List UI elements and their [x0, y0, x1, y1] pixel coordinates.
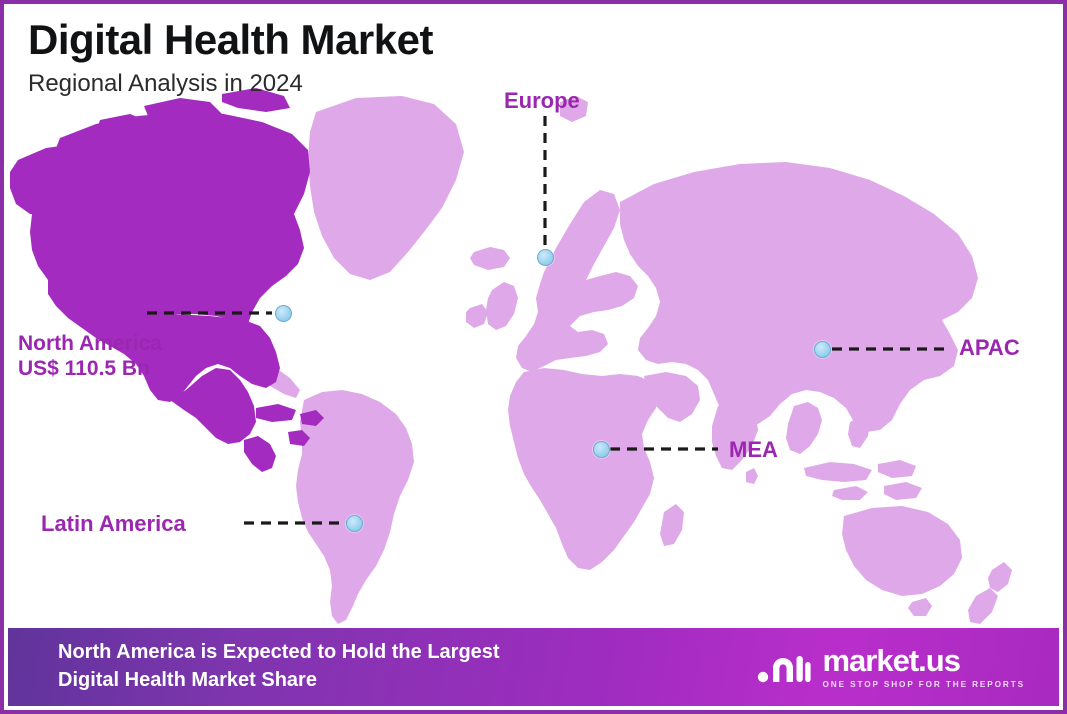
logo-wordmark: market.us	[822, 645, 959, 676]
label-north-america-value: US$ 110.5 Bn	[18, 357, 162, 382]
logo-text: market.us ONE STOP SHOP FOR THE REPORTS	[822, 645, 1025, 689]
logo-arc-n	[773, 658, 793, 682]
label-north-america: North America US$ 110.5 Bn	[18, 332, 162, 382]
market-us-logo-mark	[757, 648, 811, 686]
marker-apac[interactable]	[814, 341, 831, 358]
marker-north-america[interactable]	[275, 305, 292, 322]
logo-dot	[758, 672, 768, 682]
label-north-america-name: North America	[18, 332, 162, 357]
page-subtitle: Regional Analysis in 2024	[28, 70, 433, 98]
footer-headline-line1: North America is Expected to Hold the La…	[58, 639, 500, 667]
logo-tagline: ONE STOP SHOP FOR THE REPORTS	[822, 680, 1025, 689]
infographic-poster: Digital Health Market Regional Analysis …	[0, 0, 1067, 714]
footer-banner: North America is Expected to Hold the La…	[8, 628, 1059, 706]
footer-headline: North America is Expected to Hold the La…	[58, 639, 500, 694]
footer-headline-line2: Digital Health Market Share	[58, 667, 500, 695]
market-us-logo[interactable]: market.us ONE STOP SHOP FOR THE REPORTS	[757, 645, 1037, 689]
logo-bar-tall	[797, 656, 803, 682]
marker-mea[interactable]	[593, 441, 610, 458]
world-map-container	[4, 76, 1063, 636]
logo-bar-short	[806, 662, 811, 682]
label-latin-america: Latin America	[41, 511, 186, 537]
page-title: Digital Health Market	[28, 18, 433, 62]
label-europe: Europe	[504, 88, 580, 114]
header: Digital Health Market Regional Analysis …	[28, 18, 433, 98]
label-apac: APAC	[959, 335, 1020, 361]
marker-latin-america[interactable]	[346, 515, 363, 532]
world-map-svg	[4, 76, 1063, 636]
marker-europe[interactable]	[537, 249, 554, 266]
label-mea: MEA	[729, 437, 778, 463]
